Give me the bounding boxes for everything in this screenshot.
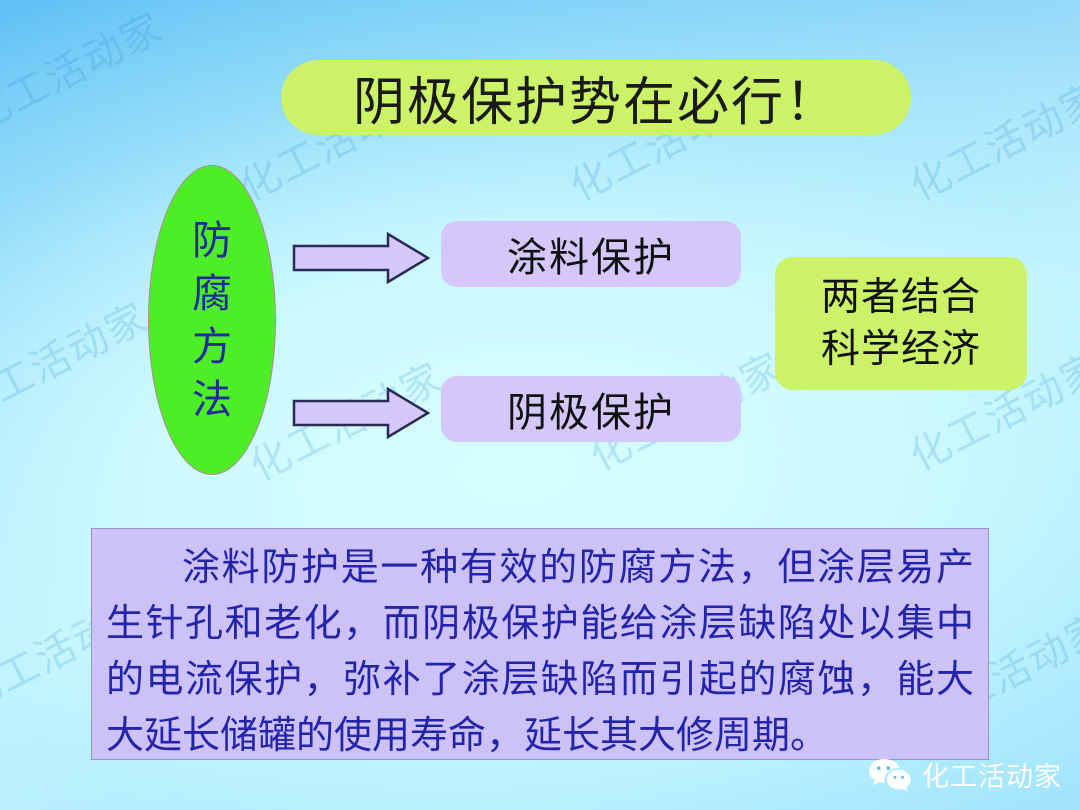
watermark-text: 化工活动家 bbox=[0, 285, 157, 432]
footer-brand-name: 化工活动家 bbox=[922, 755, 1062, 794]
arrow-to-coating-icon bbox=[292, 232, 430, 284]
slide-canvas: 化工活动家化工活动家化工活动家化工活动家化工活动家化工活动家化工活动家化工活动家… bbox=[0, 0, 1080, 810]
target-box-cathodic: 阴极保护 bbox=[441, 376, 741, 442]
source-node-char-4: 法 bbox=[192, 373, 232, 426]
conclusion-box: 两者结合 科学经济 bbox=[775, 257, 1027, 390]
watermark-text: 化工活动家 bbox=[898, 65, 1080, 212]
target-box-coating: 涂料保护 bbox=[441, 221, 741, 287]
body-paragraph-text: 涂料防护是一种有效的防腐方法，但涂层易产生针孔和老化，而阴极保护能给涂层缺陷处以… bbox=[106, 541, 974, 764]
source-node-char-3: 方 bbox=[192, 320, 232, 373]
conclusion-line-1: 两者结合 bbox=[821, 272, 981, 323]
source-node-char-2: 腐 bbox=[192, 267, 232, 320]
wechat-icon bbox=[868, 757, 912, 793]
body-paragraph-panel: 涂料防护是一种有效的防腐方法，但涂层易产生针孔和老化，而阴极保护能给涂层缺陷处以… bbox=[91, 528, 989, 760]
arrow-to-cathodic-icon bbox=[292, 387, 430, 439]
conclusion-line-2: 科学经济 bbox=[821, 324, 981, 375]
source-node-label: 防 腐 方 法 bbox=[148, 165, 276, 475]
page-title: 阴极保护势在必行！ bbox=[281, 60, 911, 135]
source-node-char-1: 防 bbox=[192, 214, 232, 267]
footer-brand: 化工活动家 bbox=[868, 755, 1062, 794]
watermark-text: 化工活动家 bbox=[0, 0, 172, 143]
